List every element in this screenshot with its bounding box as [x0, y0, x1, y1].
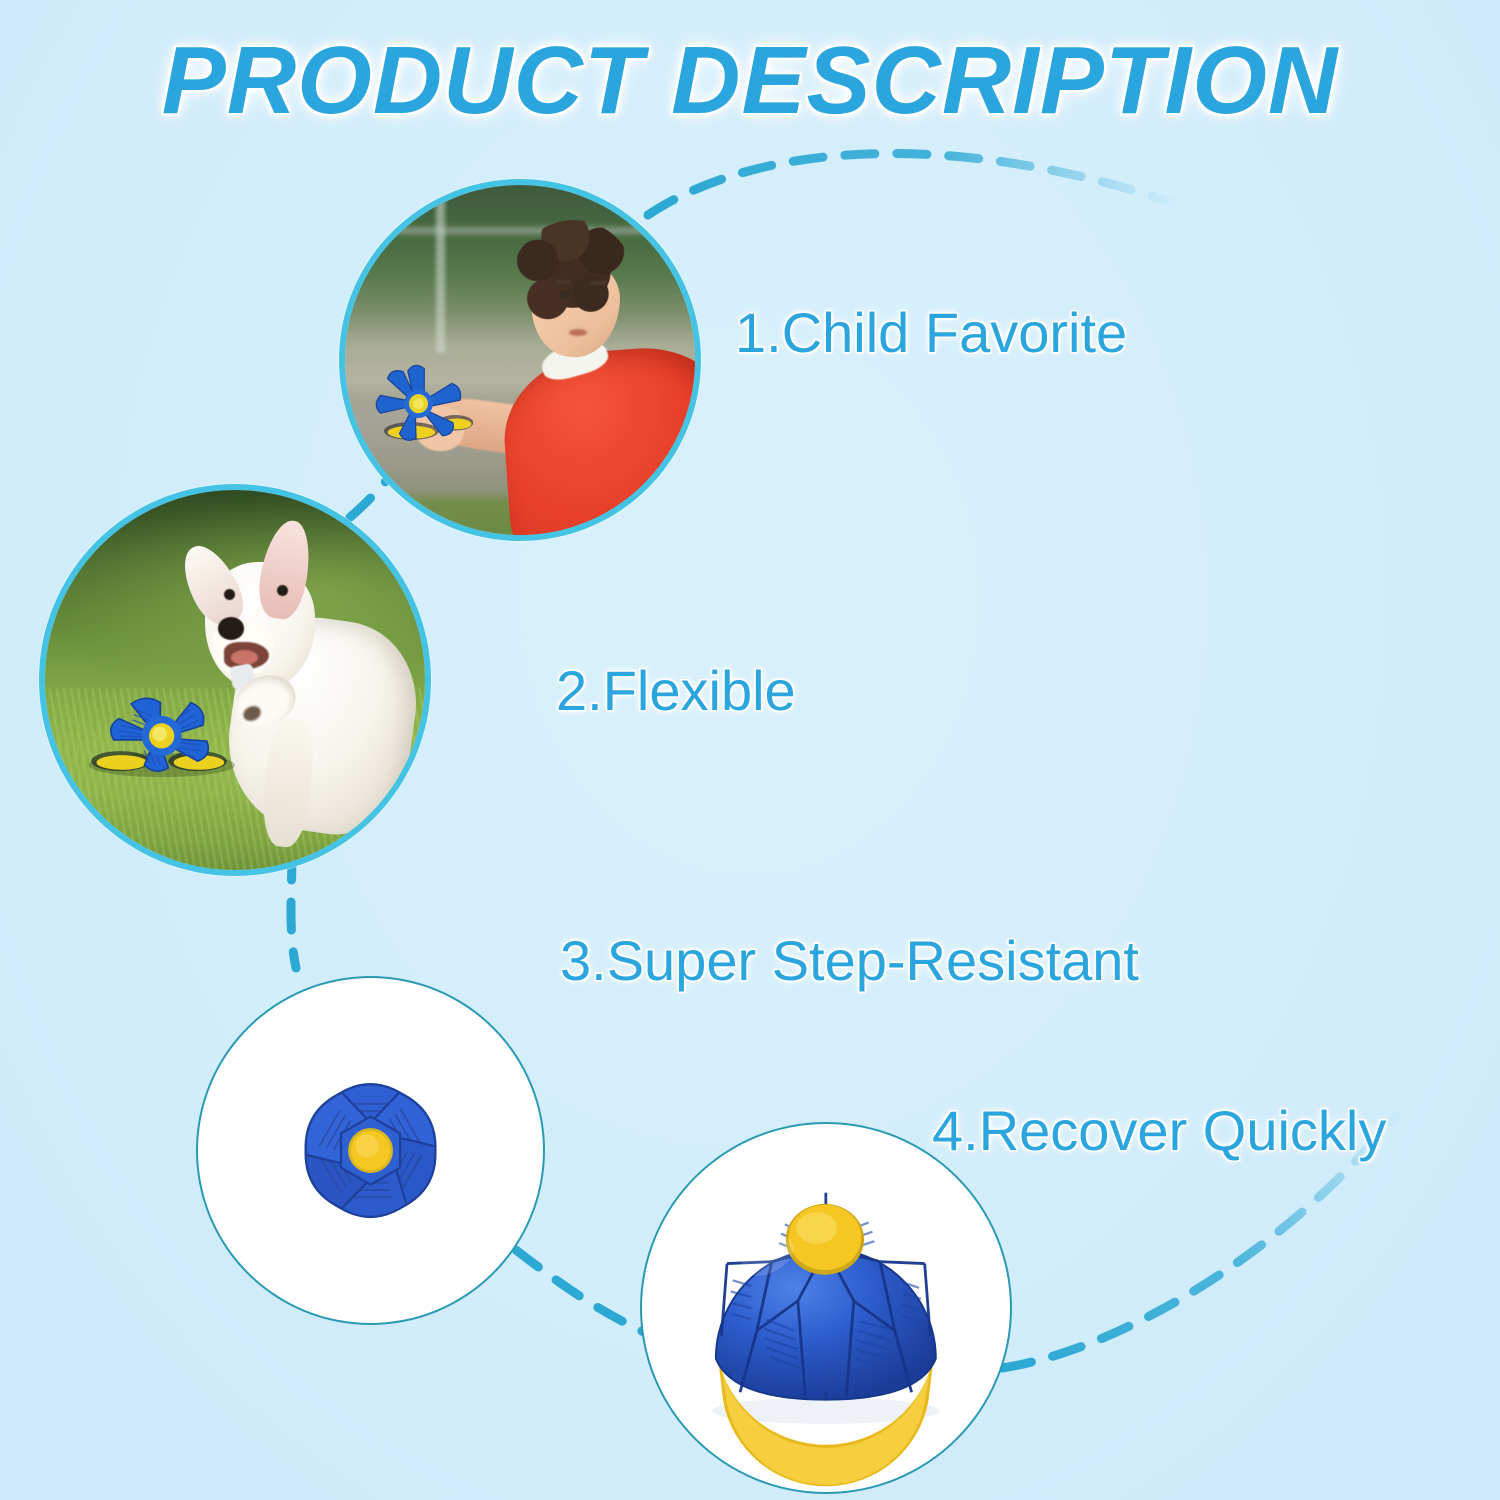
dog-eye-right — [277, 585, 288, 596]
feature-image-recover-quickly — [642, 1124, 1010, 1492]
connector-arc-top — [648, 154, 1180, 215]
dog-eye-left — [224, 589, 235, 600]
flat-disc-product — [236, 1016, 505, 1285]
page-title: PRODUCT DESCRIPTION — [0, 26, 1500, 136]
dog-tongue — [231, 650, 258, 665]
connector-3-4 — [516, 1250, 662, 1340]
child-eyebrow-left — [555, 280, 571, 284]
feature-image-flexible — [45, 490, 425, 870]
fence-post — [436, 192, 445, 353]
feature-label-step-resistant: 3.Super Step-Resistant — [560, 928, 1139, 993]
child-hair — [510, 220, 636, 339]
feature-image-step-resistant — [198, 978, 543, 1323]
child-eye-left — [559, 290, 570, 298]
child-eye-right — [594, 292, 605, 300]
feature-label-flexible: 2.Flexible — [556, 658, 796, 723]
disc-toy-on-grass — [68, 688, 258, 794]
infographic-canvas: PRODUCT DESCRIPTION — [0, 0, 1500, 1500]
feature-image-child-favorite — [345, 185, 695, 535]
feature-label-child-favorite: 1.Child Favorite — [735, 300, 1127, 365]
disc-toy-in-hand — [359, 353, 478, 462]
feature-label-recover-quickly: 4.Recover Quickly — [932, 1098, 1386, 1163]
child-mouth — [569, 329, 587, 336]
dome-ball-product — [686, 1161, 966, 1441]
child-eyebrow-right — [590, 281, 606, 285]
